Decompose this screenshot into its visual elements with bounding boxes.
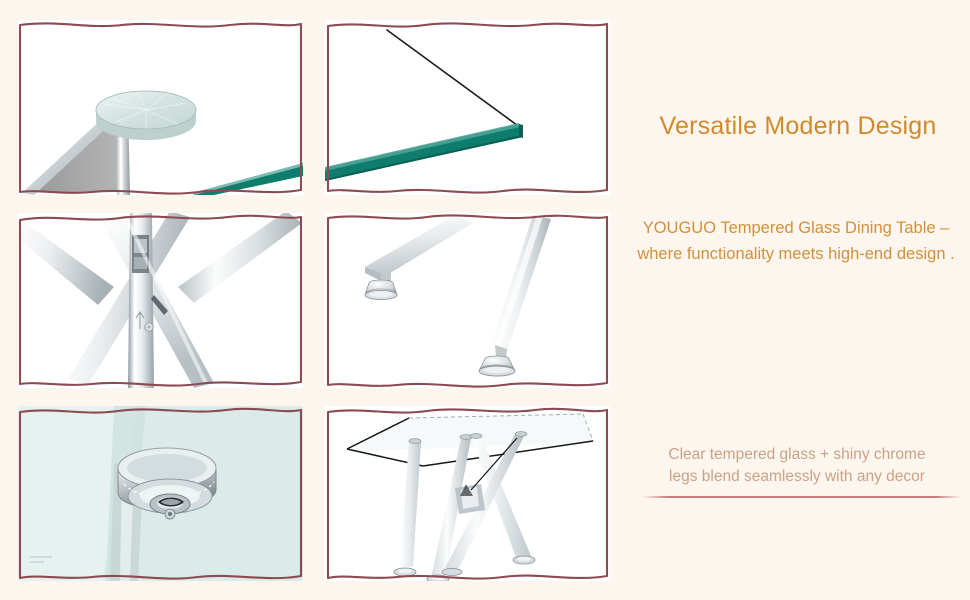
tagline-line-1: Clear tempered glass + shiny chrome [624, 444, 970, 466]
gallery-cell-top-left[interactable] [18, 20, 303, 195]
mounting-hardware-closeup-art [18, 406, 303, 581]
product-feature-banner: Versatile Modern Design YOUGUO Tempered … [0, 0, 970, 600]
glass-top-mount-detail-art [18, 20, 303, 195]
gallery-cell-middle-right[interactable] [325, 213, 610, 388]
tagline-divider-rule [642, 496, 962, 498]
product-subheadline: YOUGUO Tempered Glass Dining Table – whe… [622, 216, 970, 267]
subheadline-line-1: YOUGUO Tempered Glass Dining Table – [622, 216, 970, 242]
tagline-line-2: legs blend seamlessly with any decor [624, 466, 970, 488]
glass-edge-corner-art [325, 20, 610, 195]
crossed-chrome-legs-art [18, 213, 303, 388]
gallery-cell-middle-left[interactable] [18, 213, 303, 388]
gallery-cell-bottom-right[interactable] [325, 406, 610, 581]
product-tagline: Clear tempered glass + shiny chrome legs… [624, 444, 970, 489]
product-image-gallery [0, 0, 618, 600]
subheadline-line-2: where functionality meets high-end desig… [622, 242, 970, 268]
marketing-copy-panel: Versatile Modern Design YOUGUO Tempered … [618, 0, 970, 600]
page-title: Versatile Modern Design [626, 112, 970, 141]
full-table-view-art [325, 406, 610, 581]
gallery-cell-bottom-left[interactable] [18, 406, 303, 581]
gallery-cell-top-right[interactable] [325, 20, 610, 195]
adjustable-foot-pads-art [325, 213, 610, 388]
